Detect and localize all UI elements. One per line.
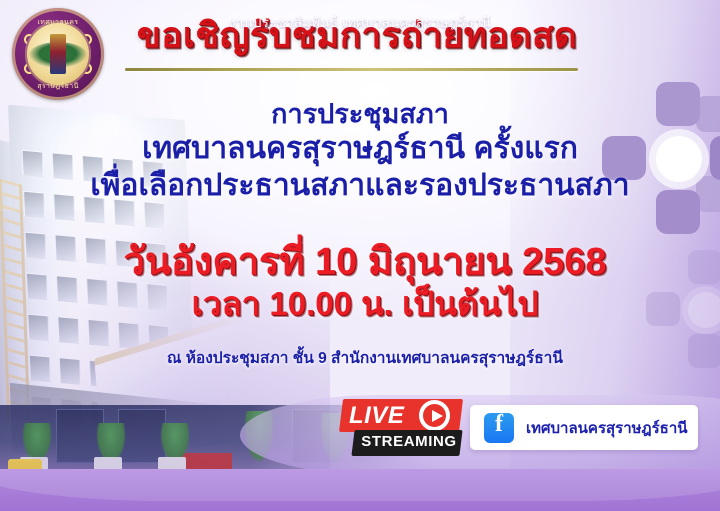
event-venue: ณ ห้องประชุมสภา ชั้น 9 สำนักงานเทศบาลนคร… <box>40 345 690 370</box>
facebook-page-link[interactable]: เทศบาลนครสุราษฎร์ธานี <box>470 405 698 450</box>
footer-bar <box>0 469 720 511</box>
footer-credit: งานประชาสัมพันธ์ เทศบาลนครสุราษฎร์ธานี <box>0 11 720 33</box>
live-streaming-badge: LIVE STREAMING <box>341 399 461 459</box>
meeting-title-line-2: เทศบาลนครสุราษฎร์ธานี ครั้งแรก <box>40 131 680 168</box>
footer-swoosh <box>0 469 720 501</box>
facebook-page-name: เทศบาลนครสุราษฎร์ธานี <box>526 416 688 440</box>
meeting-title-line-3: เพื่อเลือกประธานสภาและรองประธานสภา <box>40 168 680 205</box>
event-date: วันอังคารที่ 10 มิถุนายน 2568 <box>40 240 690 285</box>
announcement-poster: เทศบาลนคร สุราษฎร์ธานี ขอเชิญรับชมการถ่า… <box>0 0 720 511</box>
play-circle-icon <box>419 400 450 431</box>
facebook-f-icon <box>484 413 514 443</box>
streaming-label: STREAMING <box>361 433 457 450</box>
meeting-title-line-1: การประชุมสภา <box>40 98 680 131</box>
event-datetime: วันอังคารที่ 10 มิถุนายน 2568 เวลา 10.00… <box>40 240 690 324</box>
seal-emblem-icon <box>50 34 66 74</box>
gold-divider <box>125 68 578 71</box>
meeting-description: การประชุมสภา เทศบาลนครสุราษฎร์ธานี ครั้ง… <box>40 98 680 204</box>
live-label: LIVE <box>349 402 427 429</box>
seal-text-bottom: สุราษฎร์ธานี <box>12 81 104 92</box>
event-time: เวลา 10.00 น. เป็นต้นไป <box>40 285 690 324</box>
